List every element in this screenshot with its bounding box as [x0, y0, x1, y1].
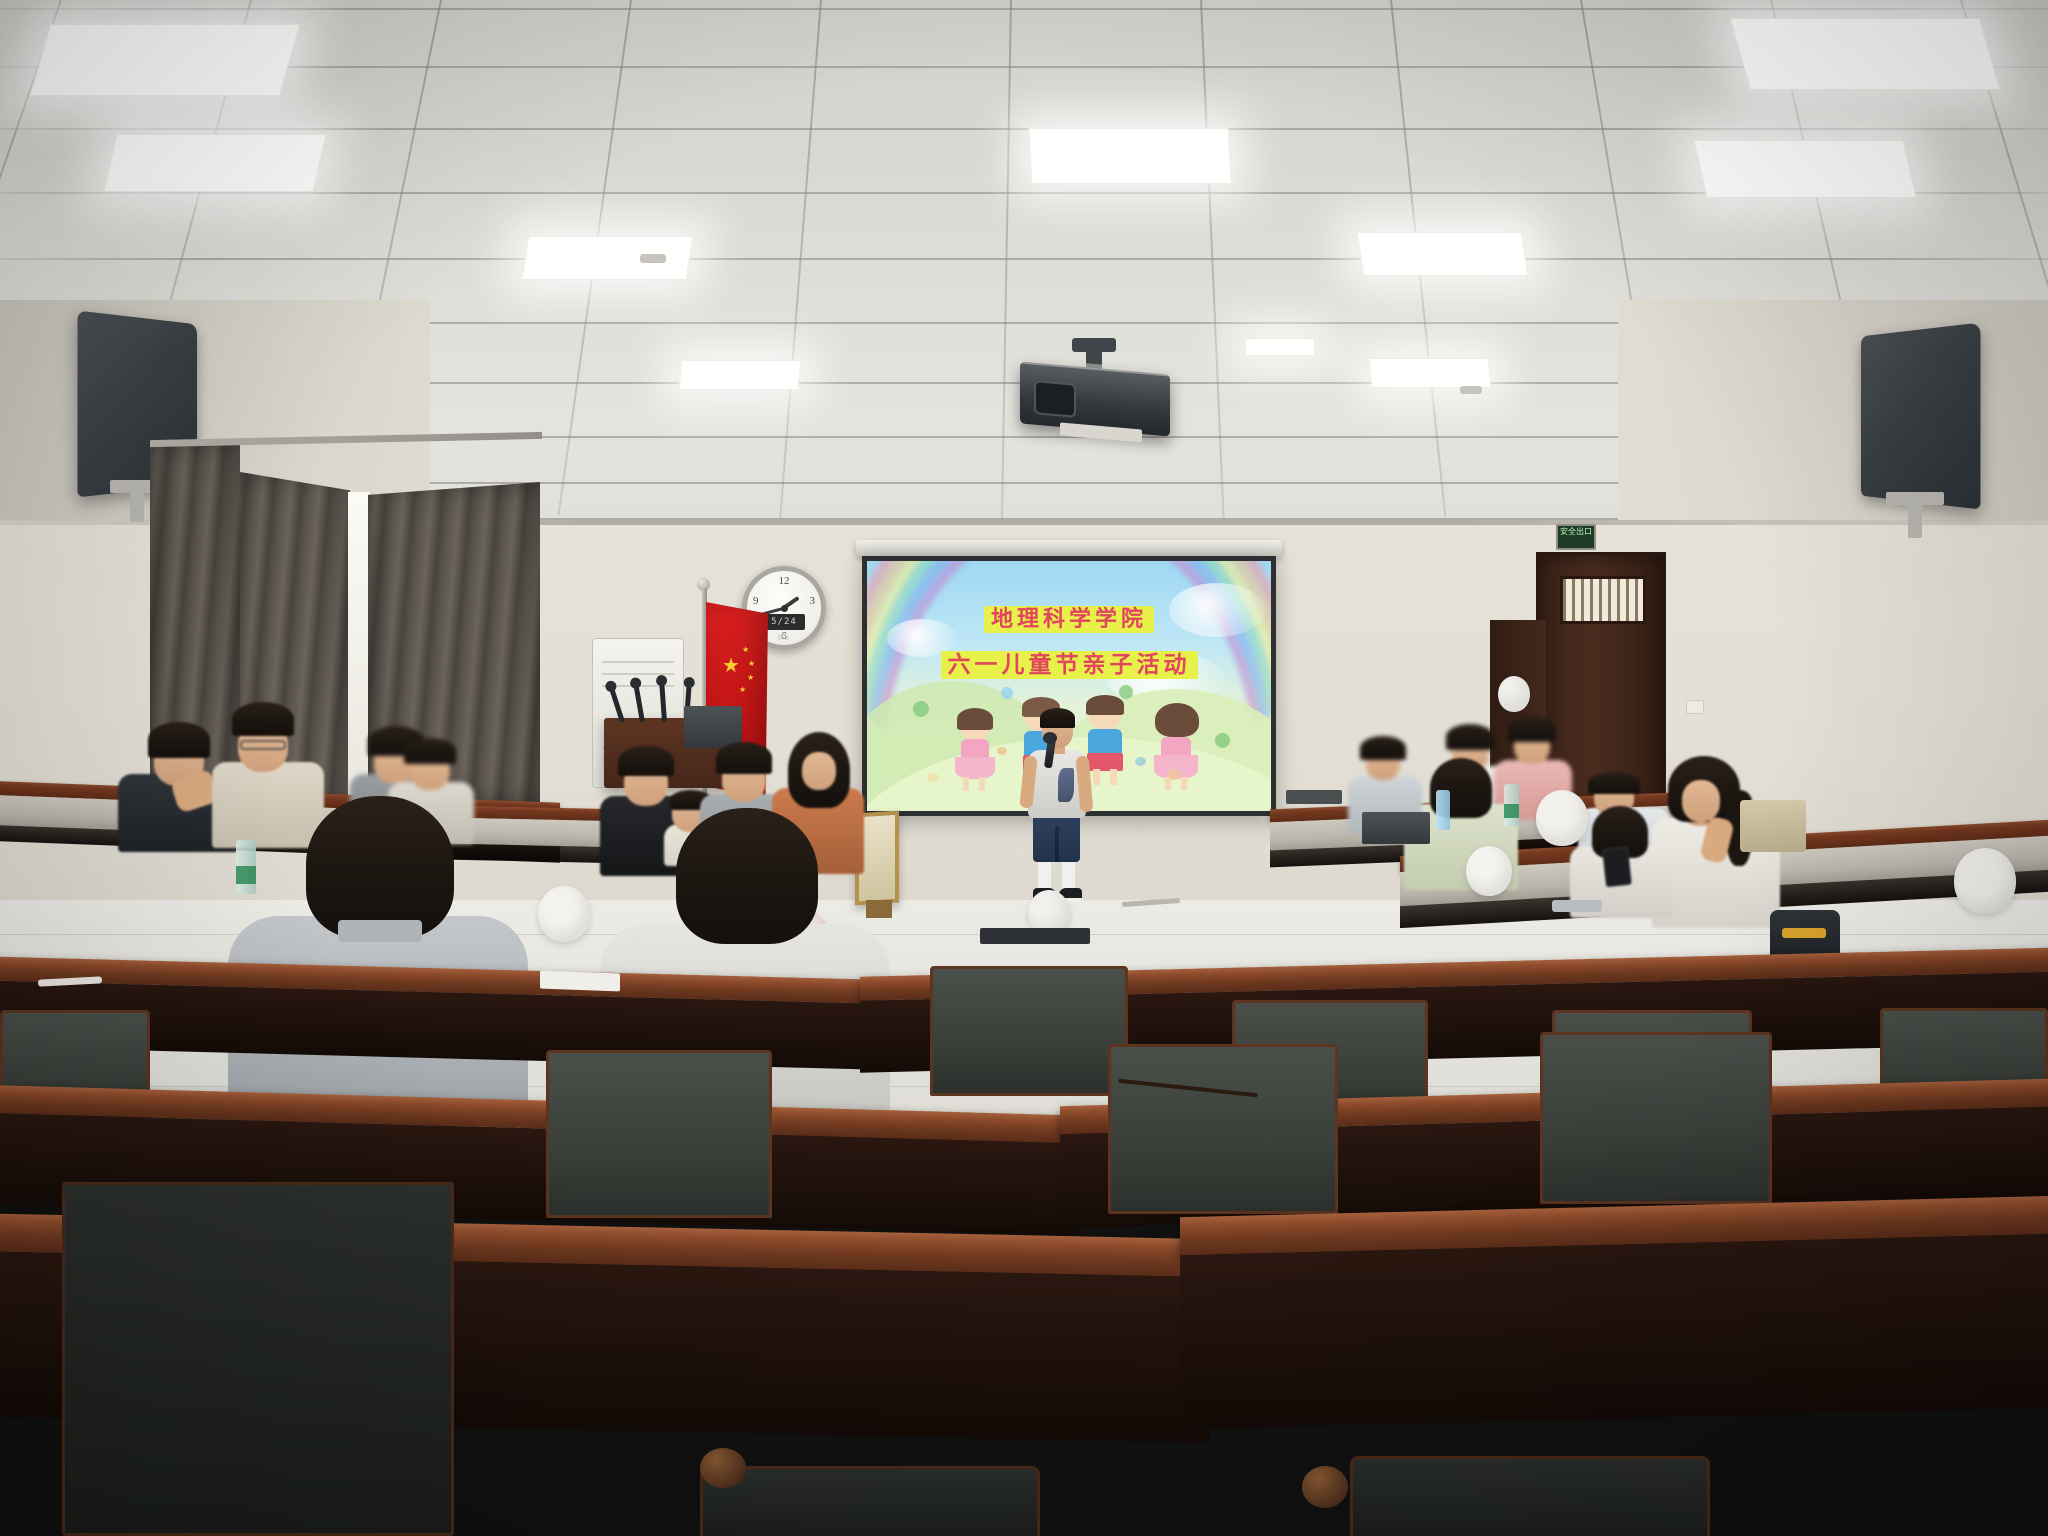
clock-number: 9: [753, 595, 759, 607]
ceiling-light-panel: [678, 360, 801, 390]
ceiling-light-panel: [522, 236, 694, 280]
lecture-room-photo: 12 3 6 9 5/24 W5 ★ ★ ★ ★ ★: [0, 0, 2048, 1536]
auditorium-desk: [1180, 1195, 2048, 1427]
smartphone[interactable]: [1602, 847, 1632, 888]
chair[interactable]: [930, 966, 1128, 1096]
bag: [1740, 800, 1806, 852]
ceiling-light-panel: [1693, 140, 1916, 198]
ceiling-light-panel: [1245, 338, 1315, 356]
chair[interactable]: [1350, 1456, 1710, 1536]
fairy-graphic: [1001, 687, 1013, 699]
water-bottle[interactable]: [1504, 784, 1519, 826]
door-lattice-window: [1560, 576, 1646, 624]
water-bottle[interactable]: [236, 840, 256, 894]
ceiling-light-panel: [1368, 358, 1491, 388]
exit-sign: 安全出口: [1556, 524, 1596, 550]
petal-graphic: [997, 747, 1007, 755]
smoke-detector: [1460, 386, 1482, 394]
water-bottle[interactable]: [1436, 790, 1450, 830]
petal-graphic: [1167, 769, 1181, 780]
chair[interactable]: [546, 1050, 772, 1218]
chair-knob: [700, 1448, 746, 1488]
slide-title-line2: 六一儿童节亲子活动: [867, 645, 1271, 679]
eyeglasses: [240, 740, 286, 750]
clock-digital-display: 5/24 W5: [763, 614, 804, 630]
paper[interactable]: [540, 971, 620, 992]
balloon: [538, 886, 590, 942]
exit-sign-line1: 安全出口: [1558, 526, 1594, 539]
balloon: [1954, 848, 2016, 914]
side-table: [1286, 790, 1342, 804]
ceiling-light-panel: [1730, 18, 2001, 90]
fairy-graphic: [1119, 685, 1133, 699]
light-switch[interactable]: [1686, 700, 1704, 714]
smoke-detector: [640, 254, 666, 263]
ceiling-light-panel: [30, 24, 301, 96]
clock-center-pin: [781, 605, 788, 612]
balloon: [1498, 676, 1530, 712]
ceiling-light-panel: [1029, 128, 1232, 184]
backpack-accent: [1782, 928, 1826, 938]
clock-number: 12: [779, 575, 790, 587]
slide-title-line1: 地理科学学院: [867, 601, 1271, 633]
clock-number: 3: [810, 595, 816, 607]
projection-screen-case: [856, 540, 1282, 557]
fairy-graphic: [913, 701, 929, 717]
chair[interactable]: [1108, 1044, 1338, 1214]
ceiling-light-panel: [1357, 232, 1529, 276]
chair-knob: [1302, 1466, 1348, 1508]
chair[interactable]: [1540, 1032, 1772, 1204]
audience-member: [228, 796, 528, 1116]
petal-graphic: [1135, 757, 1146, 766]
ceiling-light-panel: [103, 134, 326, 192]
slide-child-graphic: [951, 711, 1001, 789]
balloon: [1466, 846, 1512, 896]
chair[interactable]: [62, 1182, 454, 1536]
floor-mat: [980, 928, 1090, 944]
chair[interactable]: [700, 1466, 1040, 1536]
laptop[interactable]: [1362, 812, 1430, 844]
phone-on-desk[interactable]: [1552, 900, 1602, 912]
balloon: [1536, 790, 1588, 846]
petal-graphic: [927, 773, 939, 782]
fairy-graphic: [1215, 733, 1230, 748]
